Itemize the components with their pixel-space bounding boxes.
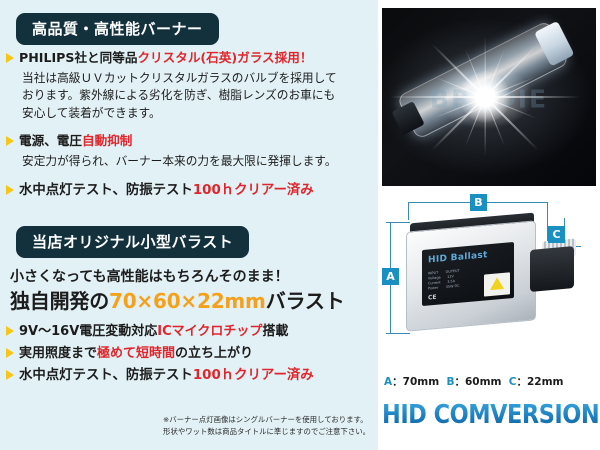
burner-bullet-2-highlight: 自動抑制 [82,133,132,148]
ballast-bullet-1: 9V～16V電圧変動対応ICマイクロチップ搭載 [0,323,288,340]
ballast-product-diagram: HID Ballast INPUT OUTPUT Voltage 12V Cur… [378,196,600,372]
ballast-lead-line-2: 独自開発の70×60×22mmバラスト [0,285,345,314]
burner-bulb-base [392,101,425,135]
burner-bullet-3: 水中点灯テスト、防振テスト100ｈクリアー済み [0,182,314,200]
burner-bullet-1-heading: PHILIPS社と同等品クリスタル(石英)ガラス採用！ [0,50,337,67]
ballast-lead-2-post: バラスト [266,289,345,313]
ballast-connector [530,246,574,292]
ballast-dimension-text: 70×60×22mm [109,289,266,313]
triangle-bullet-icon [6,185,14,195]
legend-value-c: 22mm [527,376,564,388]
dimension-legend: A：70mm B：60mm C：22mm [384,374,564,389]
disclaimer-line-1: ※バーナー点灯画像はシングルバーナーを使用しております。 [163,414,370,426]
dimension-tick-b-left [408,202,409,220]
burner-bulb-cap [534,21,574,67]
ballast-lead-2-pre: 独自開発の [10,289,109,313]
burner-bullet-3-lead: 水中点灯テスト、防振テスト [19,183,193,198]
right-image-panel: BRDDIE HID Ballast INPUT [378,0,600,450]
high-voltage-warning-sticker [484,272,510,296]
legend-value-a: 70mm [403,376,440,388]
legend-value-b: 60mm [465,376,502,388]
ballast-bullet-2-heading: 実用照度まで極めて短時間の立ち上がり [0,345,253,362]
advertisement-page: 高品質・高性能バーナー PHILIPS社と同等品クリスタル(石英)ガラス採用！ … [0,0,600,450]
triangle-bullet-icon [6,53,14,63]
ballast-bullet-1-heading: 9V～16V電圧変動対応ICマイクロチップ搭載 [0,323,288,340]
ballast-bullet-2: 実用照度まで極めて短時間の立ち上がり [0,345,253,362]
burner-badge-label: 高品質・高性能バーナー [16,13,219,45]
ballast-bullet-1-post: 搭載 [262,324,288,339]
ballast-bullet-2-pre: 実用照度まで [19,346,97,361]
burner-bullet-2: 電源、電圧自動抑制 安定力が得られ、バーナー本来の力を最大限に発揮します。 [0,133,337,170]
hid-conversion-kit-banner: HID COMVERSION KIT [382,400,600,430]
ballast-label-title: HID Ballast [428,250,488,265]
warning-triangle-icon [490,277,504,290]
legend-sep-a: ： [392,376,403,388]
burner-bullet-3-highlight: 100ｈクリアー済み [193,183,314,198]
burner-bullet-1-body-line-1: 当社は高級ＵＶカットクリスタルガラスのバルブを採用して [0,70,337,88]
burner-bullet-2-body-line-1: 安定力が得られ、バーナー本来の力を最大限に発揮します。 [0,153,337,171]
ballast-bullet-3-heading: 水中点灯テスト、防振テスト100ｈクリアー済み [0,367,314,385]
triangle-bullet-icon [6,370,14,380]
dimension-marker-b: B [470,194,487,211]
ballast-bullet-1-pre: 9V～16V電圧変動対応 [19,324,157,339]
dimension-tick-a-top [386,222,410,223]
ballast-section-header: 当店オリジナル小型バラスト [0,226,249,258]
burner-bullet-1-body-line-3: 安心して装着ができます。 [0,105,337,123]
ballast-label-spec: INPUT OUTPUT Voltage 12V Current 3.5A Po… [428,269,460,292]
burner-bullet-1-body-line-2: おります。紫外線による劣化を防ぎ、樹脂レンズのお車にも [0,87,337,105]
dimension-marker-c: C [548,226,565,243]
burner-product-photo: BRDDIE [382,8,596,186]
dimension-marker-a: A [382,268,399,285]
disclaimer-note: ※バーナー点灯画像はシングルバーナーを使用しております。 形状やワット数は商品タ… [163,414,370,438]
ballast-lead-line-1: 小さくなっても高性能はもちろんそのまま！ [0,266,289,286]
legend-sep-c: ： [517,376,528,388]
ballast-spec-label: HID Ballast INPUT OUTPUT Voltage 12V Cur… [422,242,514,306]
burner-bullet-1: PHILIPS社と同等品クリスタル(石英)ガラス採用！ 当社は高級ＵＶカットクリ… [0,50,337,122]
burner-bullet-1-highlight: クリスタル(石英)ガラス採用！ [137,50,312,65]
burner-section-header: 高品質・高性能バーナー [0,13,219,45]
ballast-badge-label: 当店オリジナル小型バラスト [16,226,249,258]
legend-sep-b: ： [454,376,465,388]
burner-bullet-1-lead: PHILIPS社と同等品 [19,50,137,65]
ballast-bullet-3: 水中点灯テスト、防振テスト100ｈクリアー済み [0,367,314,385]
ballast-bullet-1-highlight: ICマイクロチップ [157,324,262,339]
burner-bullet-3-heading: 水中点灯テスト、防振テスト100ｈクリアー済み [0,182,314,200]
burner-bullet-2-lead: 電源、電圧 [19,133,82,148]
ballast-bullet-3-highlight: 100ｈクリアー済み [193,368,314,383]
disclaimer-line-2: 形状やワット数は商品タイトルに準じますのでご注意下さい。 [163,426,370,438]
triangle-bullet-icon [6,136,14,146]
triangle-bullet-icon [6,348,14,358]
left-content-panel: 高品質・高性能バーナー PHILIPS社と同等品クリスタル(石英)ガラス採用！ … [0,0,378,450]
burner-star-flare-icon [485,97,487,99]
legend-key-a: A [384,376,392,388]
triangle-bullet-icon [6,326,14,336]
ballast-bullet-2-highlight: 極めて短時間 [97,346,175,361]
ballast-bullet-3-pre: 水中点灯テスト、防振テスト [19,368,193,383]
ballast-bullet-2-post: の立ち上がり [175,346,253,361]
legend-key-c: C [509,376,517,388]
dimension-tick-a-bottom [386,333,410,334]
burner-bullet-2-heading: 電源、電圧自動抑制 [0,133,337,150]
ce-mark-icon: CE [428,294,437,302]
